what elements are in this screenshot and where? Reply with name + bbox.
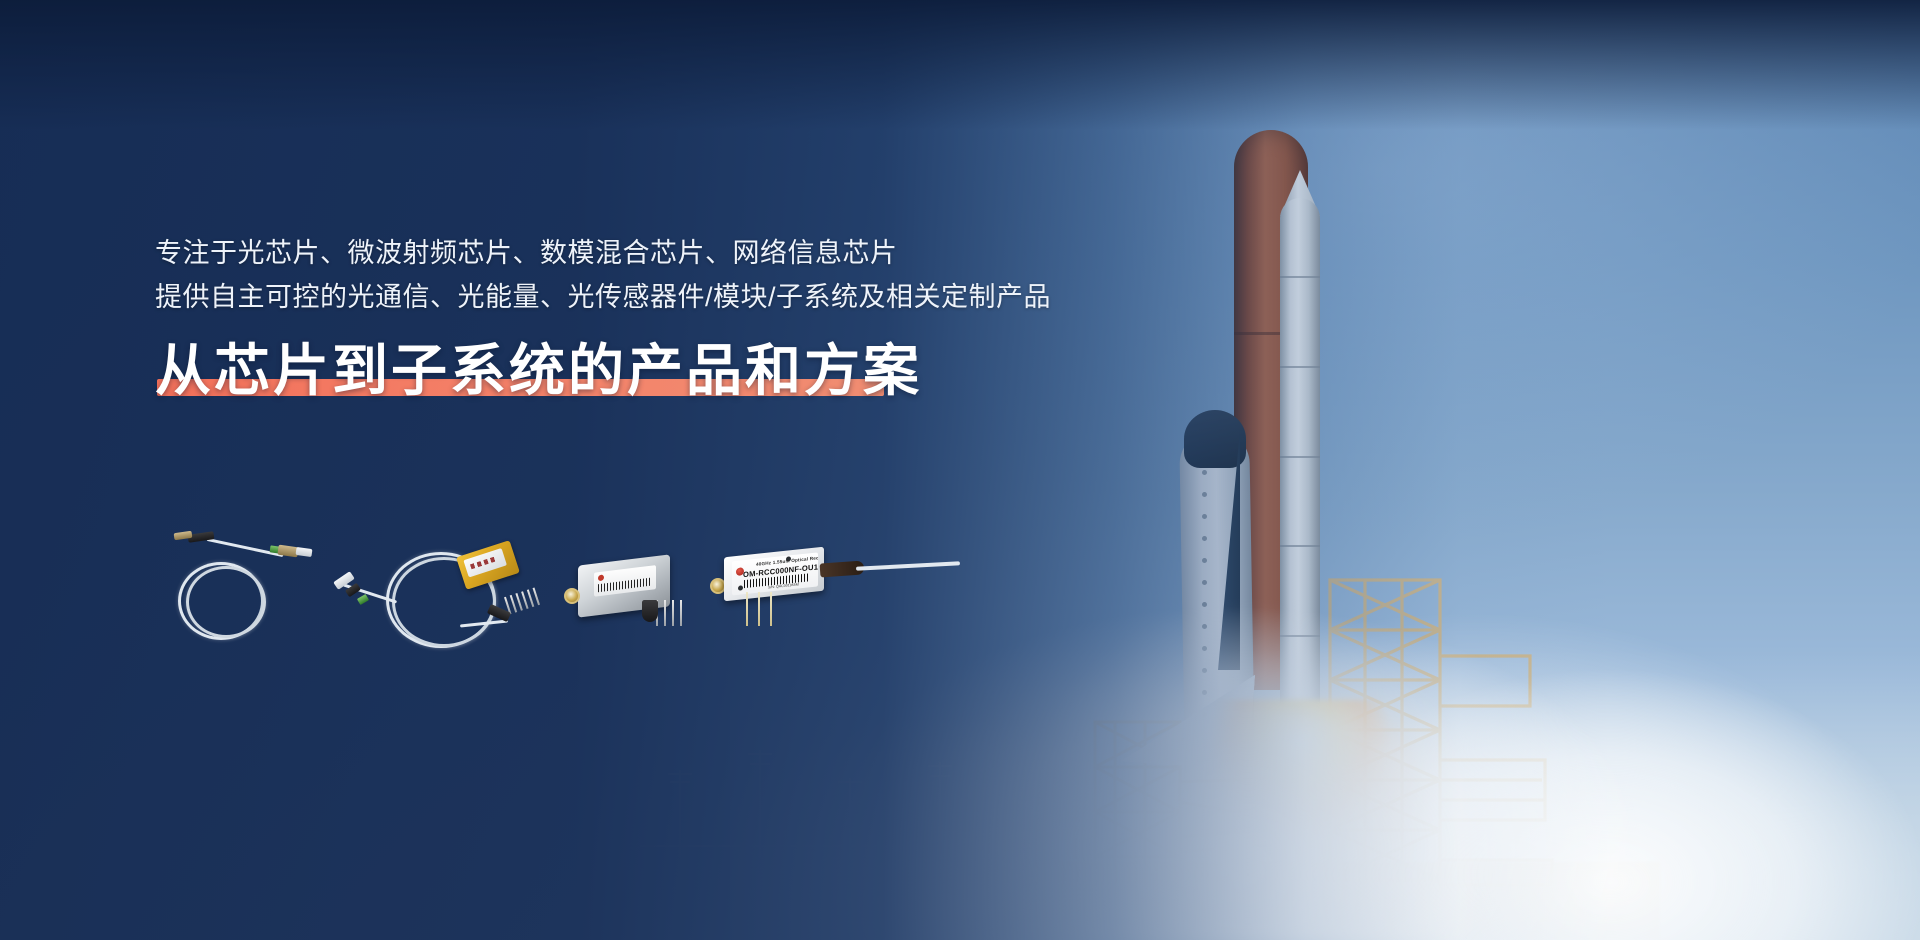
banner-copy: 专注于光芯片、微波射频芯片、数模混合芯片、网络信息芯片 提供自主可控的光通信、光…	[155, 232, 1155, 404]
sma-connector-icon	[564, 588, 580, 604]
rf-module-label	[594, 565, 656, 597]
top-shade-overlay	[0, 0, 1920, 130]
product-rf-module	[556, 544, 706, 654]
receiver-module-label: 40GHz 1.55um Optical Receiver OM-RCC000N…	[732, 552, 818, 595]
banner-subtitle-line-1: 专注于光芯片、微波射频芯片、数模混合芯片、网络信息芯片	[155, 232, 1155, 276]
product-photo-strip: 40GHz 1.55um Optical Receiver OM-RCC000N…	[160, 530, 1160, 670]
product-optical-receiver: 40GHz 1.55um Optical Receiver OM-RCC000N…	[710, 538, 970, 658]
hero-banner: 专注于光芯片、微波射频芯片、数模混合芯片、网络信息芯片 提供自主可控的光通信、光…	[0, 0, 1920, 940]
blue-gradient-overlay	[0, 0, 1920, 940]
banner-headline-wrap: 从芯片到子系统的产品和方案	[155, 339, 922, 403]
banner-headline: 从芯片到子系统的产品和方案	[155, 339, 922, 403]
product-fiber-pigtail-1	[160, 530, 320, 650]
receiver-module-body: 40GHz 1.55um Optical Receiver OM-RCC000N…	[724, 547, 824, 602]
banner-subtitle-line-2: 提供自主可控的光通信、光能量、光传感器件/模块/子系统及相关定制产品	[155, 276, 1155, 320]
butterfly-package-icon	[456, 540, 520, 590]
